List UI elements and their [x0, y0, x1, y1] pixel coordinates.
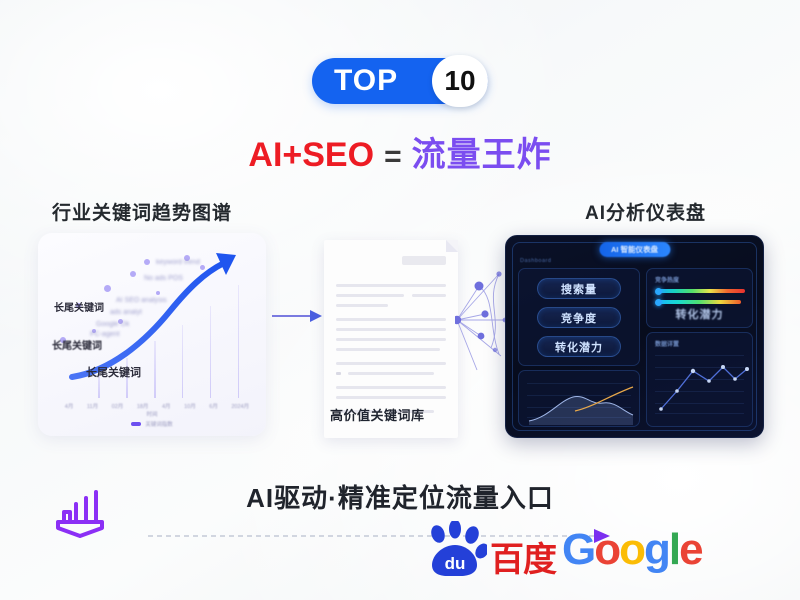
metric-pills-panel: 搜索量 竞争度 转化潜力 — [518, 268, 640, 366]
scatter-dot — [130, 271, 136, 277]
google-letter: l — [669, 528, 679, 572]
baidu-logo: du 百度 — [425, 521, 556, 579]
keyword-label: 长尾关键词 — [54, 299, 104, 314]
chart-x-label: 时间 — [38, 410, 266, 418]
top-badge-number-circle: 10 — [432, 55, 488, 107]
top-badge-word: TOP — [334, 66, 398, 96]
partner-logos: du 百度 Google — [425, 521, 702, 579]
scatter-dot — [144, 259, 150, 265]
google-letter: e — [679, 528, 701, 572]
blurred-term: Google Ok — [96, 321, 129, 328]
page-title: AI+SEO=流量王炸 — [0, 127, 800, 176]
title-left: AI+SEO — [248, 136, 374, 174]
metric-pill-competition[interactable]: 竞争度 — [537, 307, 621, 328]
legend-swatch — [131, 422, 141, 426]
keyword-label: 长尾关键词 — [86, 364, 141, 380]
google-letter: o — [619, 528, 644, 572]
gradient-knob — [655, 299, 662, 306]
line-chart-svg — [647, 333, 754, 428]
blurred-term: AI SEO analysis — [116, 297, 167, 304]
ai-dashboard-card: AI 智能仪表盘 Dashboard 搜索量 竞争度 转化潜力 竞争热度 转化潜… — [505, 235, 764, 438]
x-tick: 2024月 — [231, 402, 249, 410]
baidu-paw-icon: du — [425, 521, 487, 579]
blurred-term: ads analyt — [110, 309, 142, 316]
keyword-label: 长尾关键词 — [52, 337, 102, 352]
x-tick: 11月 — [87, 402, 98, 410]
section-header-right: AI分析仪表盘 — [585, 198, 706, 225]
dashboard-corner-label: Dashboard — [520, 258, 551, 264]
dashboard-header-badge: AI 智能仪表盘 — [599, 242, 670, 257]
section-header-left: 行业关键词趋势图谱 — [52, 198, 232, 225]
baidu-du-text: du — [445, 554, 466, 573]
chart-x-axis: 4月 11月 02月 18月 4月 10月 6月 2024月 — [58, 402, 256, 410]
google-logo: Google — [562, 528, 702, 572]
google-letter: o — [594, 528, 619, 572]
area-chart-panel — [518, 370, 640, 427]
competition-heat-panel: 竞争热度 转化潜力 — [646, 268, 753, 328]
baidu-cn-text: 百度 — [490, 543, 556, 577]
panel-overlay-text: 转化潜力 — [647, 306, 752, 322]
scatter-dot — [156, 291, 160, 295]
x-tick: 02月 — [112, 402, 124, 410]
legend-label: 关键词指数 — [145, 420, 173, 428]
google-letter: g — [644, 528, 669, 572]
line-chart-panel: 数据详置 — [646, 332, 753, 427]
area-chart-svg — [519, 371, 641, 428]
scatter-dot — [200, 265, 205, 270]
bar-chart-pedestal-icon — [50, 486, 116, 544]
gradient-knob — [655, 288, 662, 295]
x-tick: 6月 — [209, 402, 218, 410]
google-letter: G — [562, 528, 594, 572]
blurred-term: keyword trend — [156, 259, 200, 266]
gradient-bar — [657, 289, 745, 293]
scatter-dot — [104, 285, 111, 292]
metric-pill-conversion[interactable]: 转化潜力 — [537, 336, 621, 357]
x-tick: 18月 — [137, 402, 149, 410]
title-equals: = — [384, 140, 402, 173]
top-badge-number: 10 — [444, 67, 475, 95]
tagline: AI驱动·精准定位流量入口 — [0, 478, 800, 515]
keyword-trend-card: keyword trend No ads POS AI SEO analysis… — [38, 233, 266, 436]
flow-arrow-icon — [272, 308, 324, 324]
chart-legend: 关键词指数 — [38, 420, 266, 428]
x-tick: 4月 — [65, 402, 74, 410]
gradient-bar — [657, 300, 741, 304]
panel-title: 竞争热度 — [655, 275, 679, 284]
doc-title-placeholder — [402, 256, 446, 265]
title-right: 流量王炸 — [412, 136, 552, 174]
poster-canvas: TOP 10 AI+SEO=流量王炸 行业关键词趋势图谱 AI分析仪表盘 — [0, 0, 800, 600]
top-badge: TOP 10 — [312, 58, 488, 104]
document-label: 高价值关键词库 — [330, 405, 425, 424]
blurred-term: No ads POS — [144, 275, 183, 282]
metric-pill-search-volume[interactable]: 搜索量 — [537, 278, 621, 299]
x-tick: 10月 — [184, 402, 196, 410]
x-tick: 4月 — [162, 402, 171, 410]
